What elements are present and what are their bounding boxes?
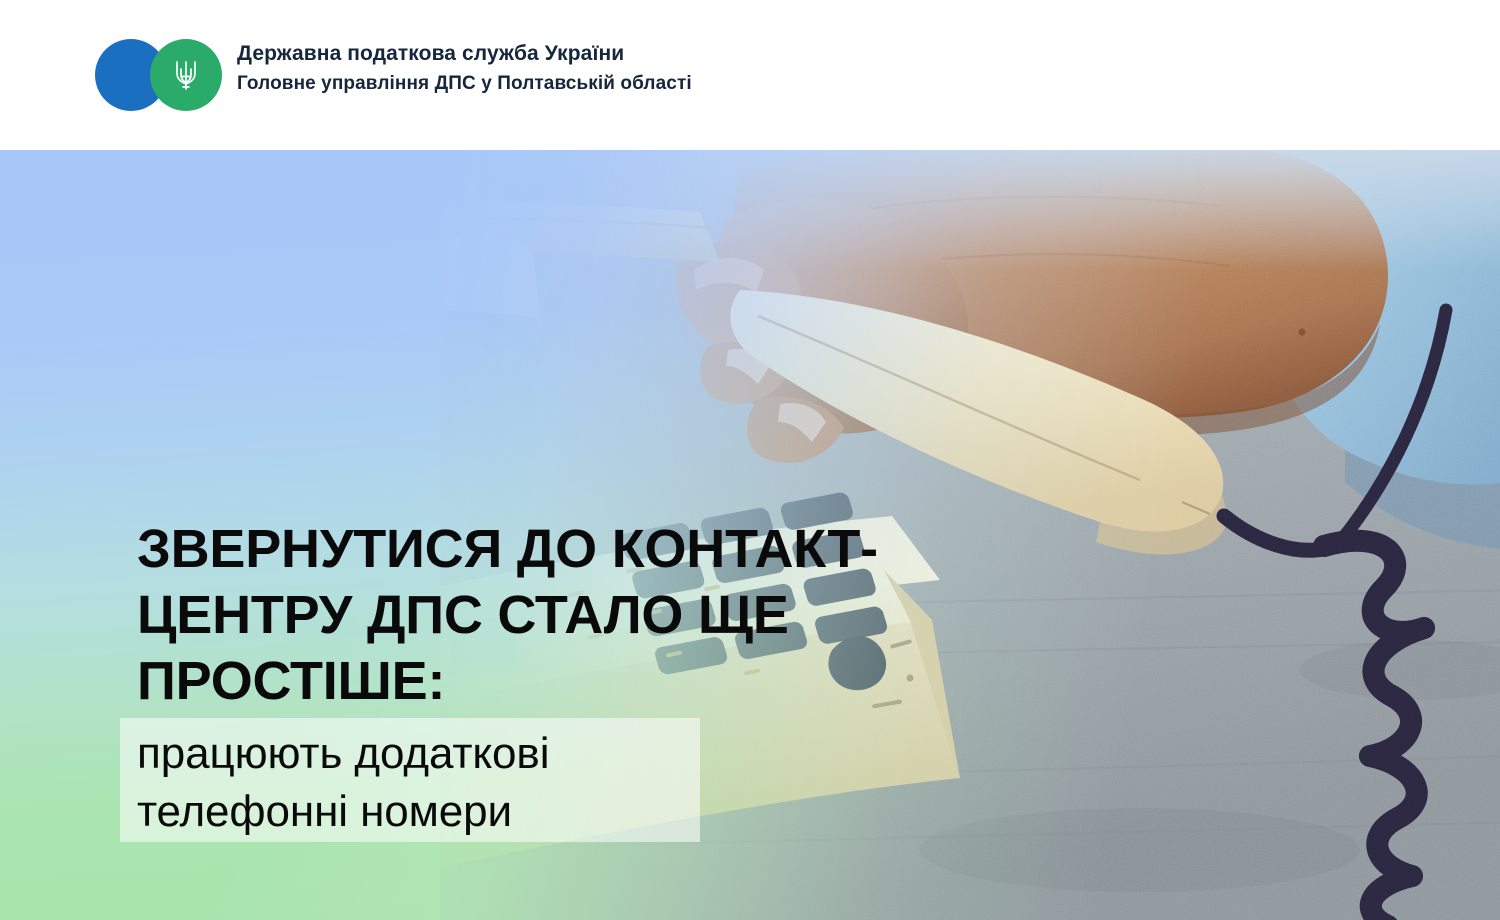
organization-logo: Державна податкова служба України Головн… — [95, 39, 692, 111]
banner: Державна податкова служба України Головн… — [0, 0, 1500, 920]
header-bar: Державна податкова служба України Головн… — [0, 0, 1500, 150]
org-subtitle: Головне управління ДПС у Полтавській обл… — [237, 71, 692, 96]
logo-marks — [95, 39, 222, 111]
green-circle-icon — [150, 39, 222, 111]
page-headline: ЗВЕРНУТИСЯ ДО КОНТАКТ-ЦЕНТРУ ДПС СТАЛО Щ… — [137, 516, 967, 714]
page-subtitle: працюють додаткові телефонні номери — [137, 725, 697, 841]
content-stage: ЗВЕРНУТИСЯ ДО КОНТАКТ-ЦЕНТРУ ДПС СТАЛО Щ… — [0, 150, 1500, 920]
org-title: Державна податкова служба України — [237, 41, 692, 67]
logo-text-block: Державна податкова служба України Головн… — [237, 39, 692, 96]
ukraine-trident-icon — [173, 58, 199, 92]
